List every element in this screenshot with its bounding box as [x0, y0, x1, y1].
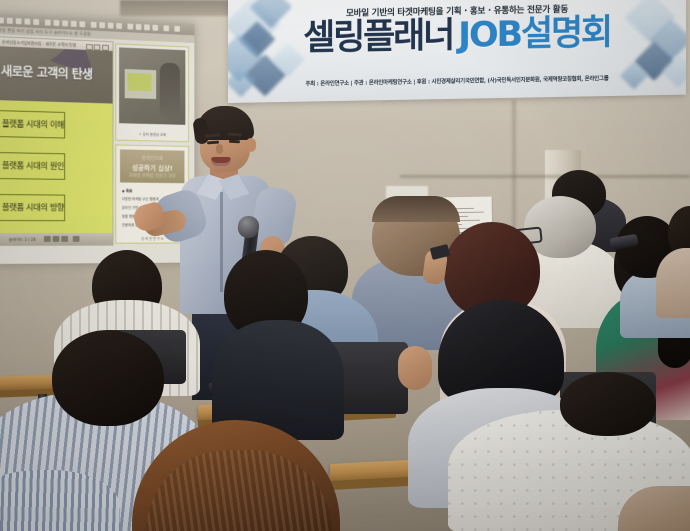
- slide-window: 온라인강소기업지원사업 - 새로운 고객의 탄생 새로운 고객의 탄생 플랫폼 …: [0, 36, 113, 246]
- presenter-nose: [216, 144, 223, 154]
- attendee-bald-center-hairfringe: [372, 196, 460, 222]
- slide-bullet-label: 플랫폼 시대의 방향: [2, 201, 64, 213]
- presenter-ear: [246, 138, 256, 152]
- slide-bullet-label: 플랫폼 시대의 이해: [2, 117, 64, 130]
- wall-seam-vertical: [512, 100, 516, 240]
- slide-status-bar: 슬라이드 1 / 24: [0, 233, 113, 245]
- slide-status-text: 슬라이드 1 / 24: [9, 236, 36, 242]
- photograph: 파일 편집 보기 삽입 서식 도구 슬라이드쇼 창 도움말 온라인강소기업지원사…: [0, 0, 690, 531]
- close-button[interactable]: [102, 44, 109, 50]
- slide-title: 새로운 고객의 탄생: [1, 60, 116, 83]
- slide-bullet: 플랫폼 시대의 방향: [0, 194, 65, 221]
- attendee-front-white-shirt-head: [560, 372, 656, 436]
- attendee-black-cap-ear: [398, 346, 432, 390]
- banner-title-part1: 셀링플래너: [303, 16, 453, 59]
- slide-bullet-label: 플랫폼 시대의 원인: [2, 159, 64, 172]
- attendee-front-striped-head: [52, 330, 164, 426]
- slide-bullet: 플랫폼 시대의 이해: [0, 110, 65, 139]
- banner-title: 셀링플래너JOB설명회: [228, 15, 686, 58]
- slide-body: 플랫폼 시대의 이해 플랫폼 시대의 원인 플랫폼 시대의 방향: [0, 100, 113, 233]
- banner-title-part2: JOB설명회: [458, 13, 611, 56]
- presenter-mouth: [211, 157, 231, 166]
- slide-bullet: 플랫폼 시대의 원인: [0, 152, 65, 180]
- event-banner: 기회를 잡는 사람이 미래를 지배한다! 모바일 기반의 타겟마케팅을 기획 ·…: [228, 0, 686, 103]
- presenter-shirt-placket: [220, 192, 223, 292]
- minimize-button[interactable]: [86, 44, 93, 50]
- wall-seam-horizontal: [400, 175, 690, 178]
- ceiling-edge: [120, 0, 240, 16]
- poster-monitor-screen: [127, 73, 151, 91]
- banner-credits: 주최 : 온라인연구소 | 주관 : 온라인마케팅연구소 | 후원 : 시민경제…: [228, 73, 686, 89]
- poster-heading: ◆ 목표: [122, 188, 132, 194]
- maximize-button[interactable]: [94, 44, 101, 50]
